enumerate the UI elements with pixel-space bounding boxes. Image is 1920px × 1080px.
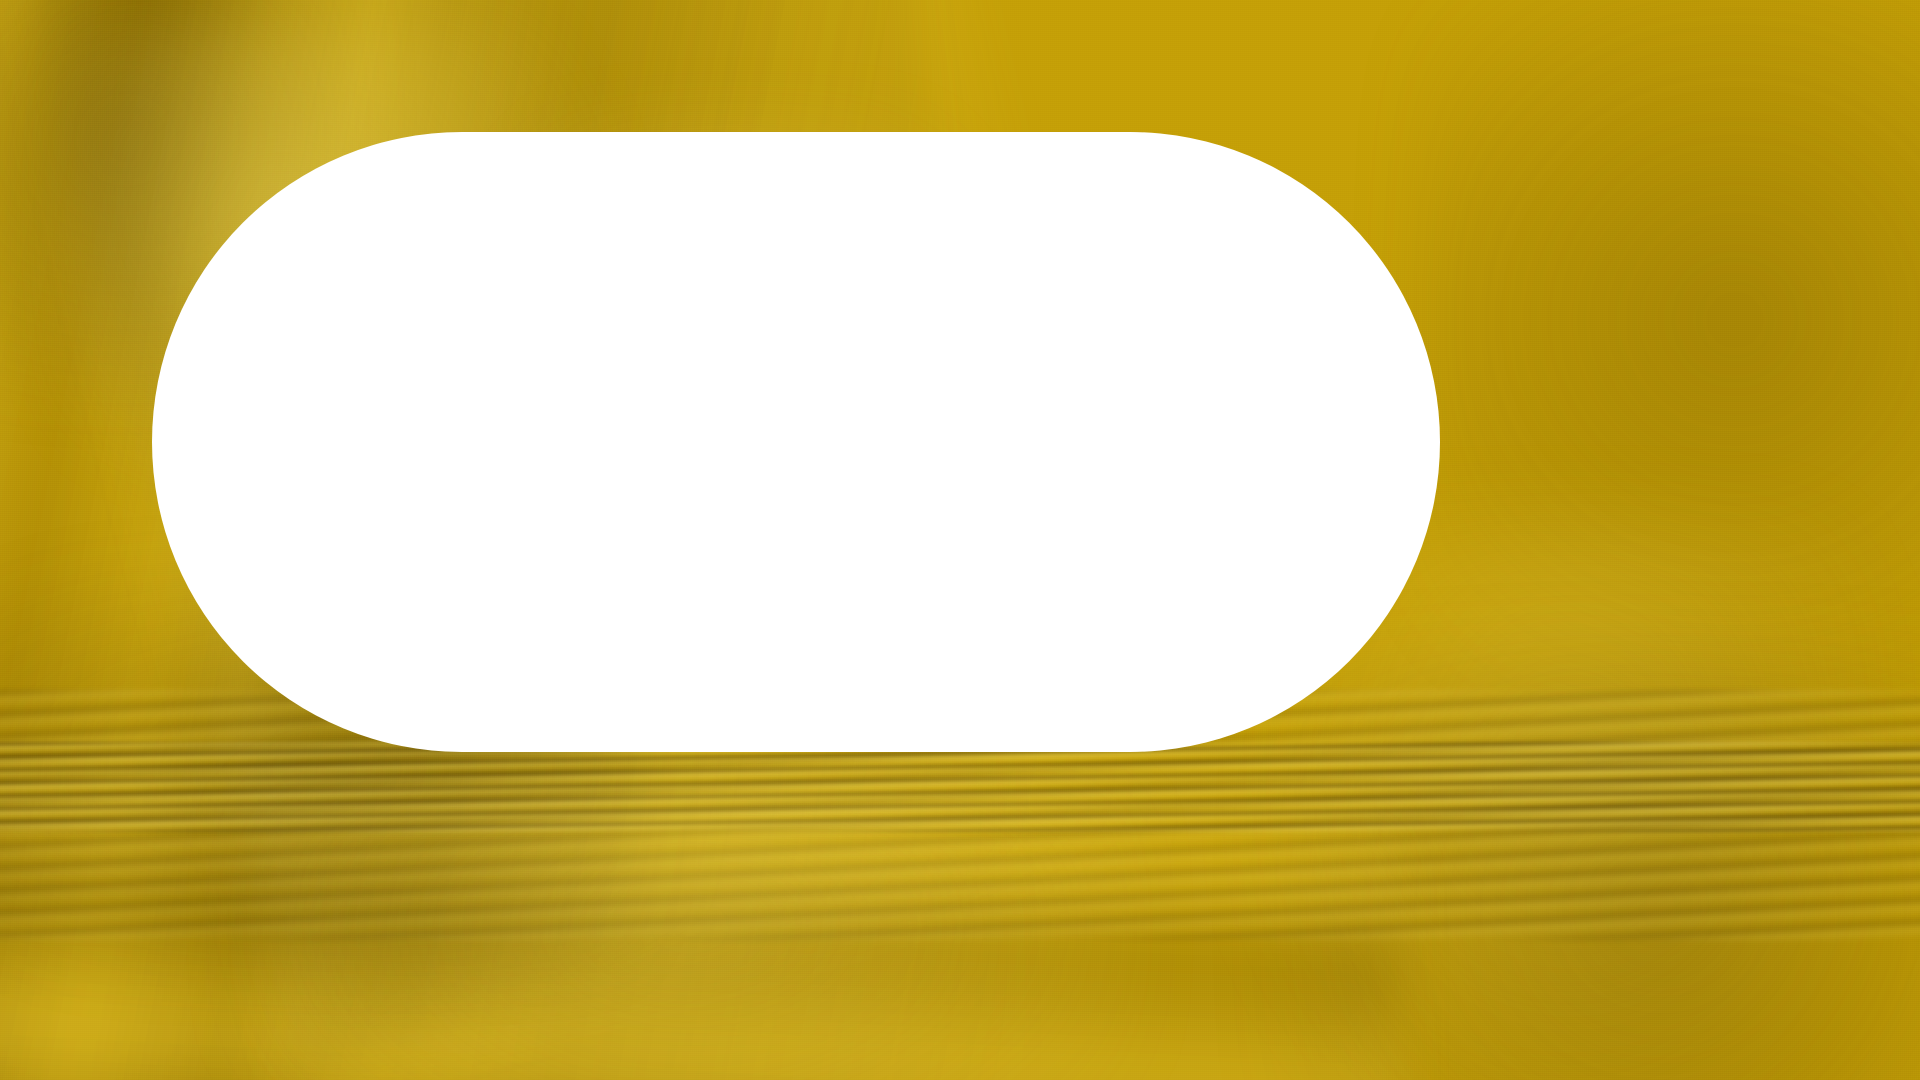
content-card [152, 132, 1440, 752]
